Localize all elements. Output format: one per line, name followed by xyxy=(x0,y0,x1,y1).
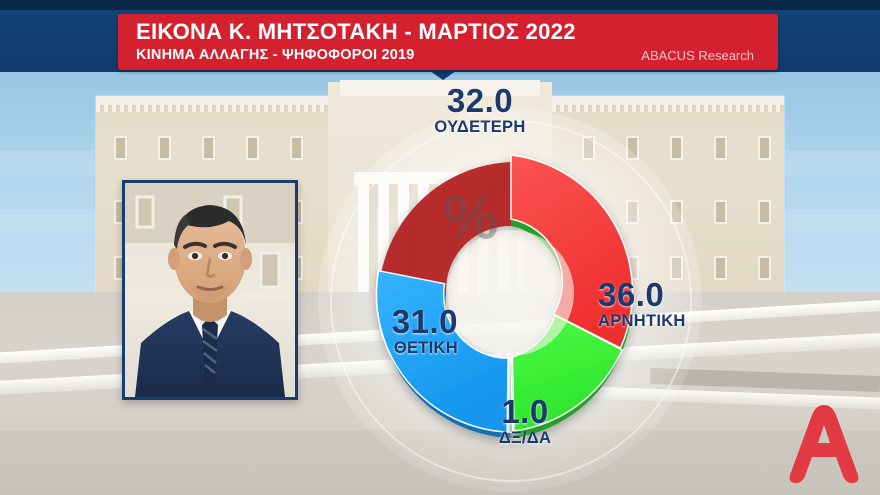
alpha-tv-logo xyxy=(784,401,864,487)
page-title: ΕΙΚΟΝΑ Κ. ΜΗΤΣΟΤΑΚΗ - ΜΑΡΤΙΟΣ 2022 xyxy=(136,19,576,45)
page-subtitle: ΚΙΝΗΜΑ ΑΛΛΑΓΗΣ - ΨΗΦΟΦΟΡΟΙ 2019 xyxy=(136,47,415,63)
label-dk-da-caption: ΔΞ/ΔΑ xyxy=(455,428,595,449)
infographic-stage: ΕΙΚΟΝΑ Κ. ΜΗΤΣΟΤΑΚΗ - ΜΑΡΤΙΟΣ 2022 ΚΙΝΗΜ… xyxy=(0,0,880,495)
title-banner: ΕΙΚΟΝΑ Κ. ΜΗΤΣΟΤΑΚΗ - ΜΑΡΤΙΟΣ 2022 ΚΙΝΗΜ… xyxy=(118,14,778,70)
alpha-a-icon xyxy=(784,401,864,487)
label-dk-da-value: 1.0 xyxy=(455,395,595,428)
label-neutral-value: 32.0 xyxy=(400,84,560,117)
label-positive: 31.0 ΘΕΤΙΚΗ xyxy=(298,305,458,359)
portrait-illustration xyxy=(125,183,295,397)
label-positive-caption: ΘΕΤΙΚΗ xyxy=(298,338,458,359)
label-negative: 36.0 ΑΡΝΗΤΙΚΗ xyxy=(598,278,768,332)
source-credit: ABACUS Research xyxy=(641,48,754,63)
label-negative-caption: ΑΡΝΗΤΙΚΗ xyxy=(598,311,768,332)
label-neutral-caption: ΟΥΔΕΤΕΡΗ xyxy=(400,117,560,138)
label-positive-value: 31.0 xyxy=(298,305,458,338)
label-neutral: 32.0 ΟΥΔΕΤΕΡΗ xyxy=(400,84,560,138)
banner-notch xyxy=(430,71,456,80)
portrait-photo xyxy=(122,180,298,400)
top-strip xyxy=(0,0,880,10)
label-negative-value: 36.0 xyxy=(598,278,768,311)
percent-symbol: % xyxy=(443,183,496,254)
label-dk-da: 1.0 ΔΞ/ΔΑ xyxy=(455,395,595,449)
